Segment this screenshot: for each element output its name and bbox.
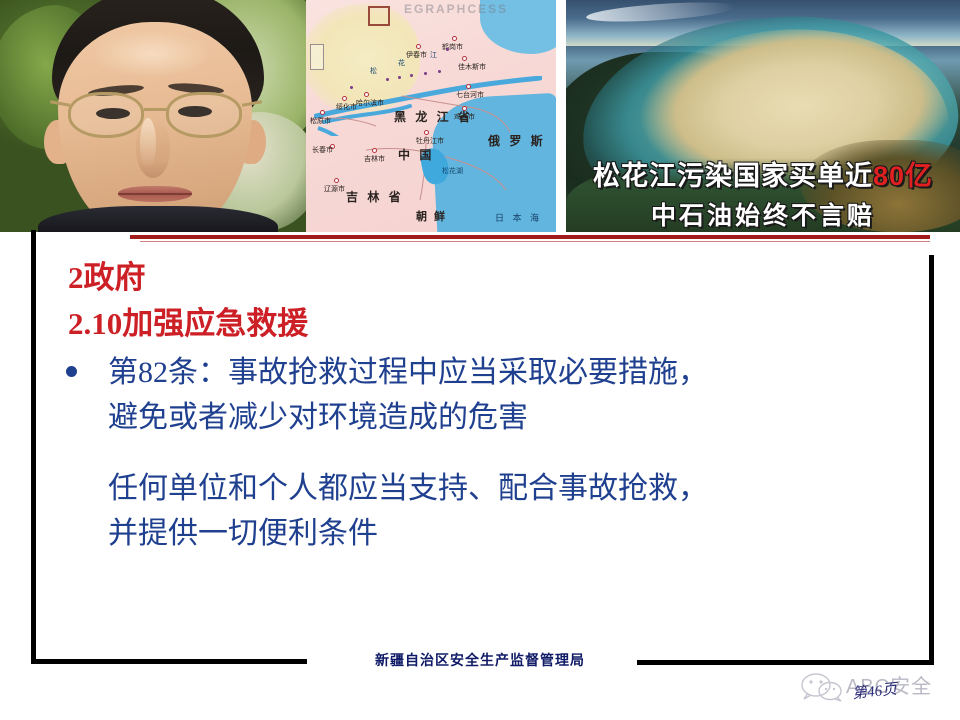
map-city-dot — [342, 96, 347, 101]
map-label-russia: 俄 罗 斯 — [488, 132, 546, 149]
pollution-headline: 松花江污染国家买单近80亿 — [566, 154, 960, 193]
red-divider-rule-thin — [140, 241, 930, 242]
map-city-label: 牡丹江市 — [416, 136, 444, 146]
map-county-dot — [350, 86, 353, 89]
map-city-label: 鹤岗市 — [442, 42, 463, 52]
portrait-lip-line — [118, 193, 192, 195]
map-city-label: 辽源市 — [324, 184, 345, 194]
map-city-dot — [462, 106, 467, 111]
bullet-text: 第82条：事故抢救过程中应当采取必要措施， 避免或者减少对环境造成的危害 — [108, 350, 916, 440]
wechat-icon — [800, 672, 844, 702]
map-city-dot — [320, 110, 325, 115]
map-county-dot — [410, 74, 413, 77]
map-river-char-2: 花 — [398, 58, 405, 68]
map-city-dot — [364, 92, 369, 97]
content-area: 2政府 2.10加强应急救援 第82条：事故抢救过程中应当采取必要措施， 避免或… — [0, 246, 960, 646]
map-label-korea: 朝 鲜 — [416, 208, 447, 224]
map-county-dot — [386, 78, 389, 81]
map-county-dot — [424, 72, 427, 75]
map-city-label: 哈尔滨市 — [356, 98, 384, 108]
map-city-label: 伊春市 — [406, 50, 427, 60]
bullet-line-2: 避免或者减少对环境造成的危害 — [108, 395, 916, 440]
portrait-photo — [0, 0, 306, 232]
footer-organization: 新疆自治区安全生产监督管理局 — [0, 650, 960, 670]
portrait-forehead-highlight — [92, 30, 212, 78]
subsection-heading: 2.10加强应急救援 — [68, 298, 308, 343]
paragraph-line-1: 任何单位和个人都应当支持、配合事故抢救， — [108, 466, 948, 511]
map-city-dot — [424, 130, 429, 135]
map-city-label: 鸡西市 — [454, 112, 475, 122]
slide-canvas: EGRAPHCESS 松花湖 黑 龙 江 省 中 国 俄 罗 斯 朝 鲜 吉 林… — [0, 0, 960, 720]
map-county-dot — [438, 70, 441, 73]
map-county-dot — [446, 48, 449, 51]
page-number: 第46页 — [851, 678, 898, 704]
map-city-dot — [462, 56, 467, 61]
map-label-jilin: 吉 林 省 — [346, 188, 404, 205]
eyeglass-lens-right — [166, 92, 242, 138]
map-city-dot — [452, 36, 457, 41]
pollution-headline-prefix: 松花江污染国家买单近 — [593, 161, 873, 191]
map-city-dot — [466, 84, 471, 89]
pollution-headline-amount: 80亿 — [873, 161, 933, 191]
pollution-subheadline: 中石油始终不言赔 — [566, 196, 960, 232]
paragraph-line-2: 并提供一切便利条件 — [108, 511, 948, 556]
map-city-dot — [372, 148, 377, 153]
map-city-label: 长春市 — [312, 145, 333, 155]
red-divider-rule — [130, 235, 930, 239]
bullet-item: 第82条：事故抢救过程中应当采取必要措施， 避免或者减少对环境造成的危害 — [66, 350, 916, 440]
map-city-label: 绥化市 — [336, 102, 357, 112]
portrait-suit — [38, 206, 278, 232]
eyeglass-bridge — [144, 108, 168, 111]
map-image: EGRAPHCESS 松花湖 黑 龙 江 省 中 国 俄 罗 斯 朝 鲜 吉 林… — [306, 0, 556, 232]
map-city-label: 松原市 — [310, 116, 331, 126]
map-city-label: 佳木斯市 — [458, 62, 486, 72]
map-city-dot — [334, 178, 339, 183]
portrait-nose-highlight — [140, 118, 156, 168]
eyeglass-lens-left — [68, 92, 144, 138]
map-label-sea-of-japan: 日 本 海 — [495, 211, 542, 224]
frame-line-left-vertical — [31, 230, 36, 664]
map-city-label: 吉林市 — [364, 154, 385, 164]
map-river-char-1: 松 — [370, 66, 377, 76]
section-heading: 2政府 — [68, 252, 146, 297]
bullet-dot-icon — [66, 366, 77, 377]
bullet-line-1: 第82条：事故抢救过程中应当采取必要措施， — [108, 350, 916, 395]
watermark-group: ABC安全 第46页 — [800, 668, 960, 708]
paragraph-block: 任何单位和个人都应当支持、配合事故抢救， 并提供一切便利条件 — [108, 466, 948, 556]
top-image-band: EGRAPHCESS 松花湖 黑 龙 江 省 中 国 俄 罗 斯 朝 鲜 吉 林… — [0, 0, 960, 240]
map-county-dot — [398, 76, 401, 79]
pollution-photo: 松花江污染国家买单近80亿 中石油始终不言赔 — [566, 0, 960, 232]
map-label-china: 中 国 — [398, 146, 434, 163]
map-city-dot — [416, 44, 421, 49]
map-city-label: 七台河市 — [456, 90, 484, 100]
map-river-char-3: 江 — [430, 50, 437, 60]
map-lake-label: 松花湖 — [442, 166, 463, 176]
frame-line-right-vertical — [929, 255, 934, 665]
